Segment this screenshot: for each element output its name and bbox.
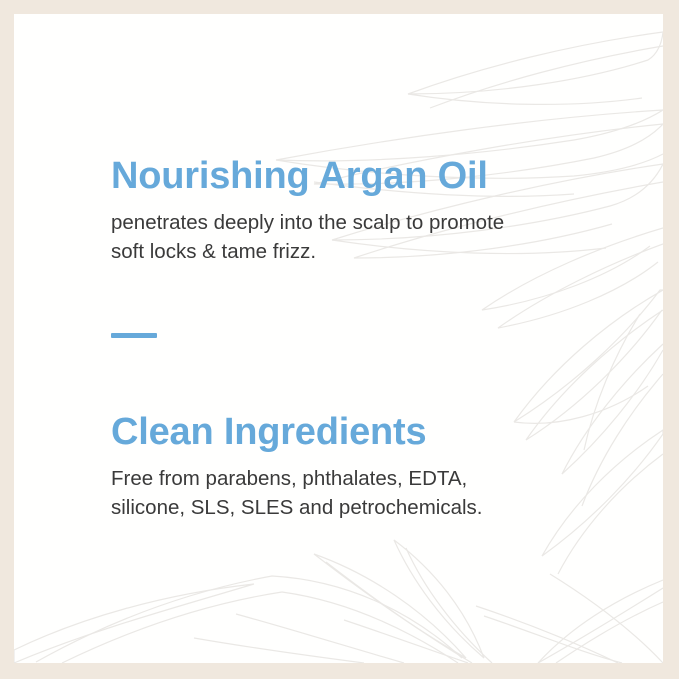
body-line: Free from parabens, phthalates, EDTA, [111,465,482,494]
body-line: soft locks & tame frizz. [111,238,504,267]
card-content: Nourishing Argan Oil penetrates deeply i… [14,14,663,663]
body-line: silicone, SLS, SLES and petrochemicals. [111,494,482,523]
section-divider [111,333,157,338]
product-info-card: Nourishing Argan Oil penetrates deeply i… [14,14,663,663]
feature-body-argan-oil: penetrates deeply into the scalp to prom… [111,199,504,266]
feature-section-clean-ingredients: Clean Ingredients Free from parabens, ph… [111,409,482,522]
body-line: penetrates deeply into the scalp to prom… [111,209,504,238]
feature-heading-argan-oil: Nourishing Argan Oil [111,153,504,199]
feature-body-clean-ingredients: Free from parabens, phthalates, EDTA, si… [111,455,482,522]
feature-section-argan-oil: Nourishing Argan Oil penetrates deeply i… [111,153,504,266]
outer-border-frame: Nourishing Argan Oil penetrates deeply i… [0,0,679,679]
feature-heading-clean-ingredients: Clean Ingredients [111,409,482,455]
